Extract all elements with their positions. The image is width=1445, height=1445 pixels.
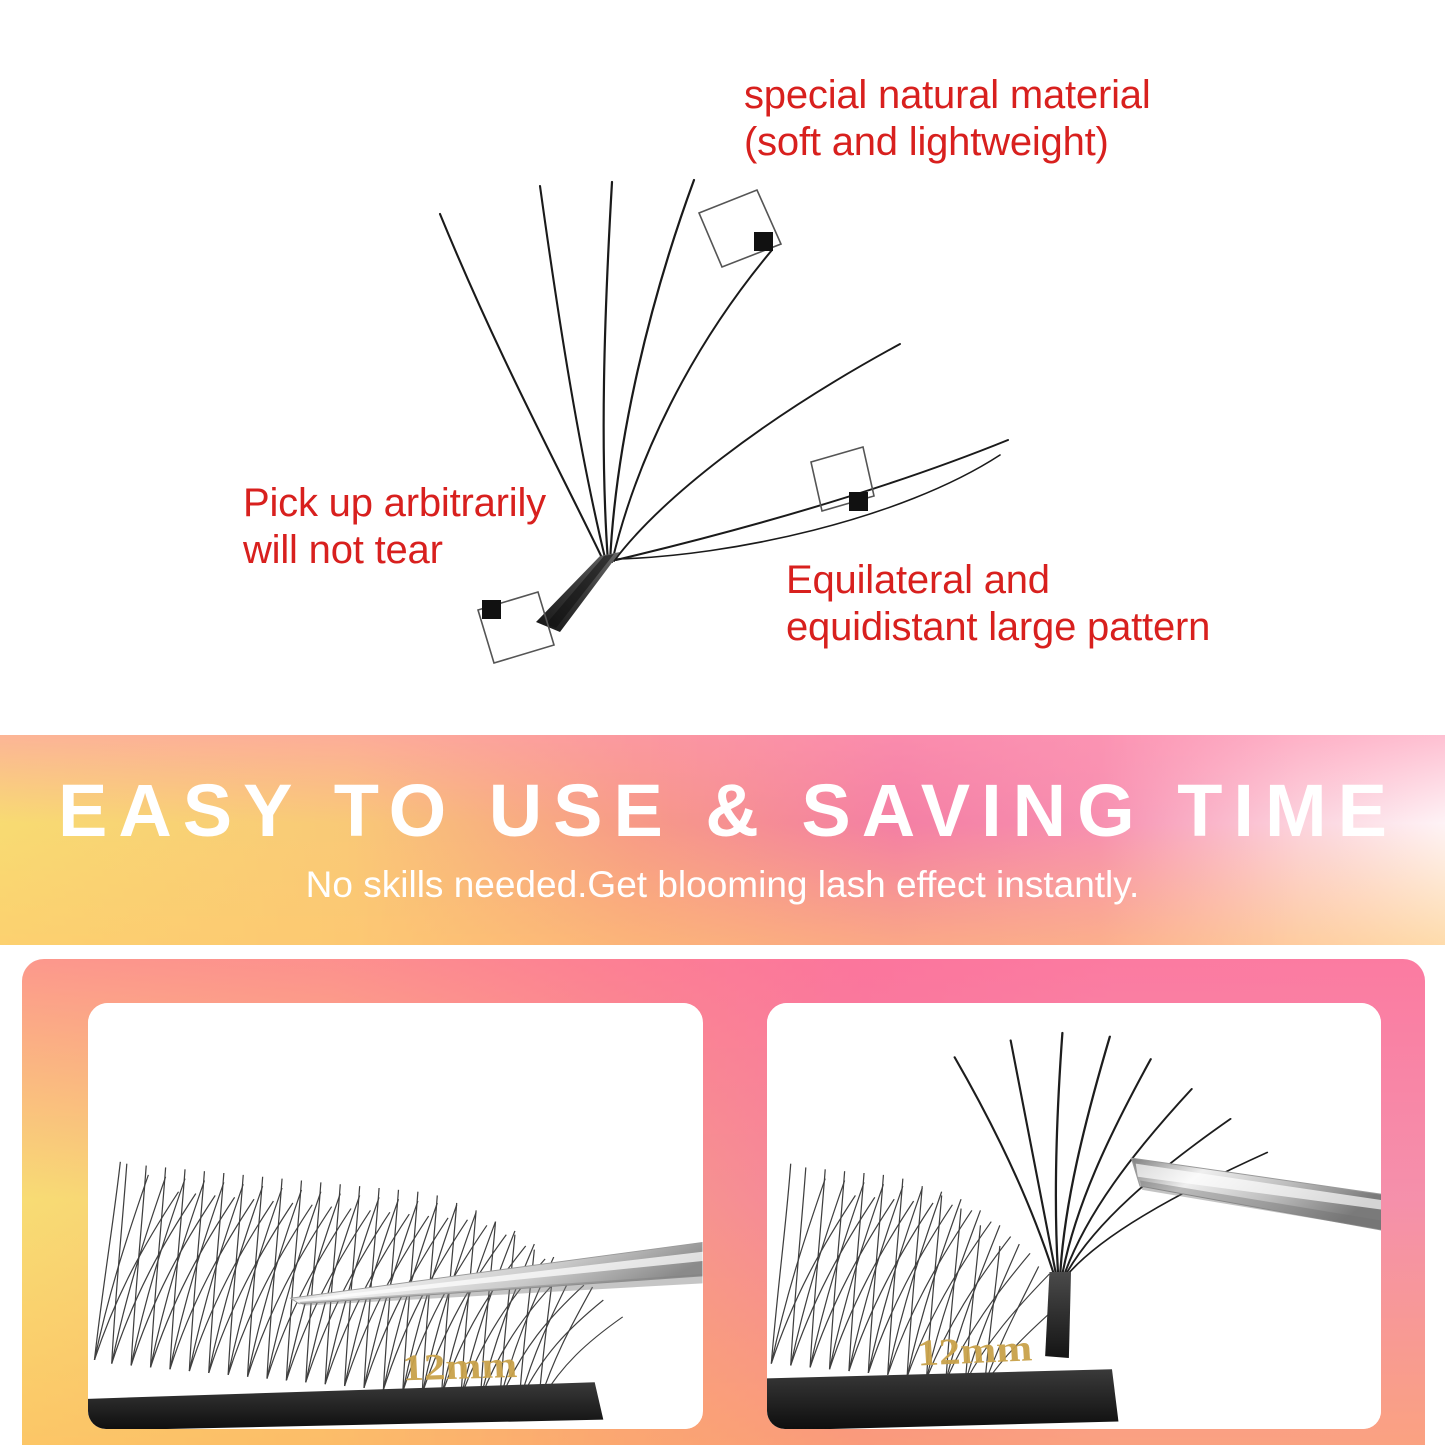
- bottom-gradient-panel: 12mm: [22, 959, 1425, 1445]
- lash-fan-illustration: [0, 0, 1445, 735]
- banner-subtitle: No skills needed.Get blooming lash effec…: [306, 864, 1140, 906]
- callout-equilateral-equidistant: Equilateral and equidistant large patter…: [786, 557, 1210, 651]
- banner-headline: EASY TO USE & SAVING TIME: [47, 774, 1398, 848]
- size-label-12mm: 12mm: [401, 1344, 518, 1389]
- size-label-text: 12mm: [915, 1327, 1032, 1374]
- top-illustration-section: special natural material (soft and light…: [0, 0, 1445, 735]
- callout-special-natural-material: special natural material (soft and light…: [744, 72, 1151, 166]
- size-label-12mm: 12mm: [915, 1327, 1032, 1374]
- photo-card-lash-tray: 12mm: [88, 1003, 703, 1429]
- photo-card-lash-pickup: 12mm: [767, 1003, 1382, 1429]
- lash-pickup-photo: 12mm: [767, 1003, 1382, 1429]
- lash-tray-photo: 12mm: [88, 1003, 703, 1429]
- marker-box-middle: [811, 447, 874, 511]
- feature-banner: EASY TO USE & SAVING TIME No skills need…: [0, 735, 1445, 945]
- marker-box-base: [478, 592, 554, 663]
- bottom-photo-section: 12mm: [0, 945, 1445, 1445]
- size-label-text: 12mm: [401, 1344, 518, 1389]
- callout-pick-up-arbitrarily: Pick up arbitrarily will not tear: [243, 480, 546, 574]
